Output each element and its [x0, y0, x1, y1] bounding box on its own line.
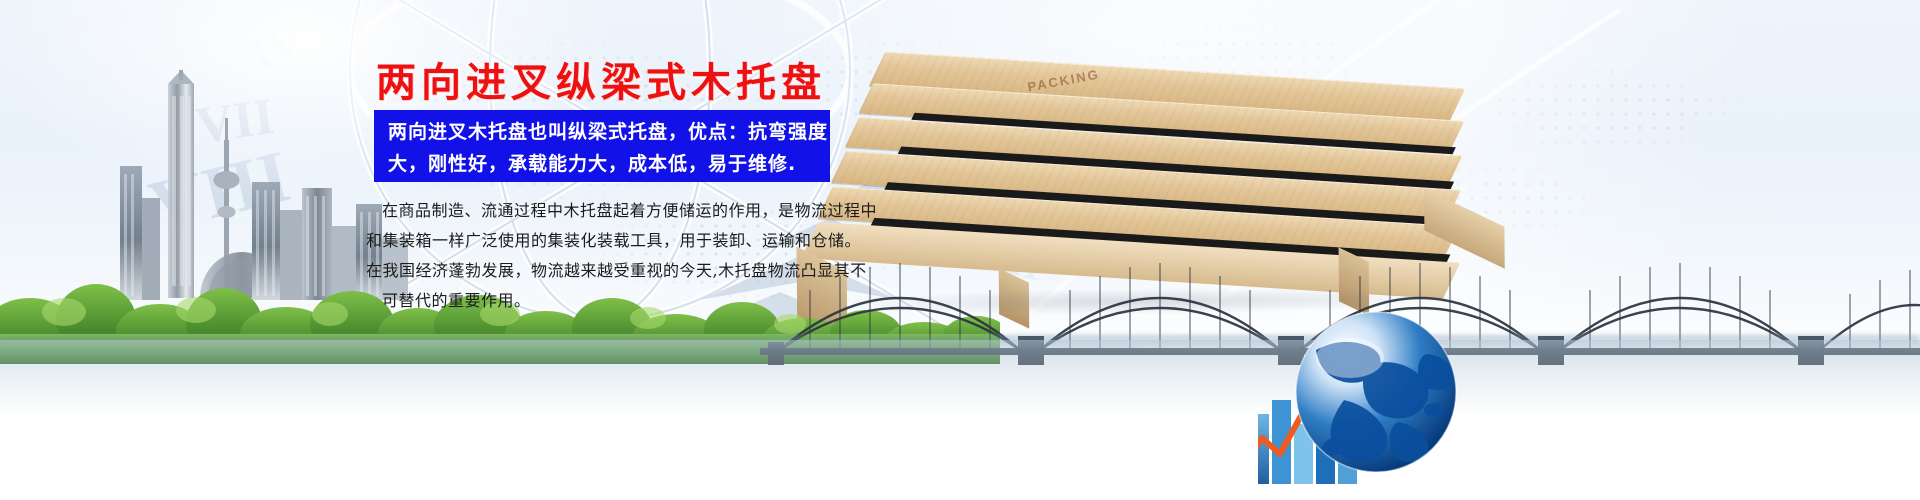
- description-line-4: 可替代的重要作用。: [366, 286, 914, 316]
- water-reflection: [0, 340, 1920, 430]
- highlight-line-2: 大，刚性好，承载能力大，成本低，易于维修.: [388, 148, 820, 180]
- page-title: 两向进叉纵梁式木托盘: [376, 50, 826, 108]
- highlight-line-1: 两向进叉木托盘也叫纵梁式托盘，优点：抗弯强度: [388, 116, 820, 148]
- description-line-3: 在我国经济蓬勃发展，物流越来越受重视的今天,木托盘物流凸显其不: [366, 256, 914, 286]
- description-line-2: 和集装箱一样广泛使用的集装化装载工具，用于装卸、运输和仓储。: [366, 226, 914, 256]
- description-paragraph: 在商品制造、流通过程中木托盘起着方便储运的作用，是物流过程中 和集装箱一样广泛使…: [366, 196, 914, 316]
- highlight-callout-box: 两向进叉木托盘也叫纵梁式托盘，优点：抗弯强度 大，刚性好，承载能力大，成本低，易…: [374, 110, 830, 182]
- description-line-1: 在商品制造、流通过程中木托盘起着方便储运的作用，是物流过程中: [366, 196, 914, 226]
- globe-growth-chart-graphic: [1258, 296, 1463, 496]
- product-banner: VIII VII XI IV II: [0, 0, 1920, 500]
